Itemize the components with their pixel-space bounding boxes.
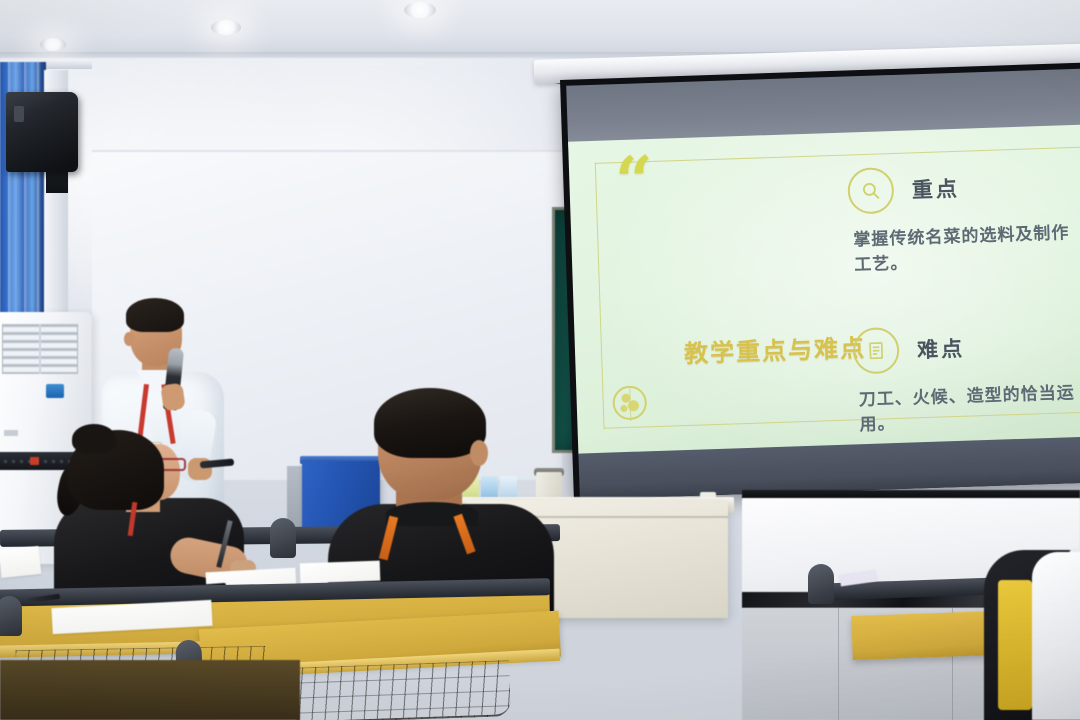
ac-badge bbox=[46, 384, 64, 398]
attendee-center-ear bbox=[470, 440, 488, 466]
magnifier-icon bbox=[847, 167, 894, 214]
floor-shadow-left bbox=[0, 660, 300, 720]
desk-cap bbox=[808, 564, 834, 604]
globe-icon bbox=[612, 385, 647, 420]
attendee-right bbox=[984, 520, 1080, 720]
desk-cap bbox=[270, 518, 296, 558]
attendee-center-hair bbox=[374, 388, 486, 458]
presenter-hand-left bbox=[160, 383, 185, 412]
slide-bullet-key-point: 重点 掌握传统名菜的选料及制作工艺。 bbox=[847, 161, 1080, 278]
paper-sheet bbox=[0, 546, 41, 578]
bullet-label-key-point: 重点 bbox=[911, 173, 960, 205]
bullet-text-difficult-point: 刀工、火候、造型的恰当运用。 bbox=[858, 381, 1080, 438]
paper-sheet bbox=[300, 561, 381, 584]
bullet-label-difficult-point: 难点 bbox=[917, 333, 966, 365]
white-bag bbox=[1032, 552, 1080, 720]
downlight-icon bbox=[40, 38, 66, 51]
ac-power-led-icon bbox=[30, 457, 39, 465]
quote-mark-icon: “ bbox=[614, 153, 650, 208]
bullet-text-key-point: 掌握传统名菜的选料及制作工艺。 bbox=[853, 221, 1080, 278]
slide-border-left bbox=[595, 163, 605, 429]
classroom-scene: “ 教学重点与难点 重点 掌握传统名菜的选料及制作工艺。 bbox=[0, 0, 1080, 720]
slide-border-top bbox=[595, 147, 1080, 164]
downlight-icon bbox=[211, 20, 241, 35]
floor-seam bbox=[838, 608, 839, 720]
document-stack-icon bbox=[852, 327, 899, 374]
chair-back bbox=[998, 580, 1032, 710]
presenter-hair bbox=[126, 298, 184, 332]
slide-bullet-difficult-point: 难点 刀工、火候、造型的恰当运用。 bbox=[852, 321, 1080, 438]
wall-speaker bbox=[6, 92, 78, 172]
downlight-icon bbox=[404, 2, 436, 18]
desk-cap bbox=[0, 596, 22, 636]
attendee-left-hair-bun bbox=[72, 424, 116, 454]
desk-basket bbox=[289, 660, 511, 720]
projection-screen: “ 教学重点与难点 重点 掌握传统名菜的选料及制作工艺。 bbox=[560, 63, 1080, 500]
projected-slide: “ 教学重点与难点 重点 掌握传统名菜的选料及制作工艺。 bbox=[568, 125, 1080, 456]
presenter-ear bbox=[124, 332, 134, 346]
ac-logo bbox=[4, 430, 18, 436]
ac-grille-split bbox=[39, 324, 41, 374]
